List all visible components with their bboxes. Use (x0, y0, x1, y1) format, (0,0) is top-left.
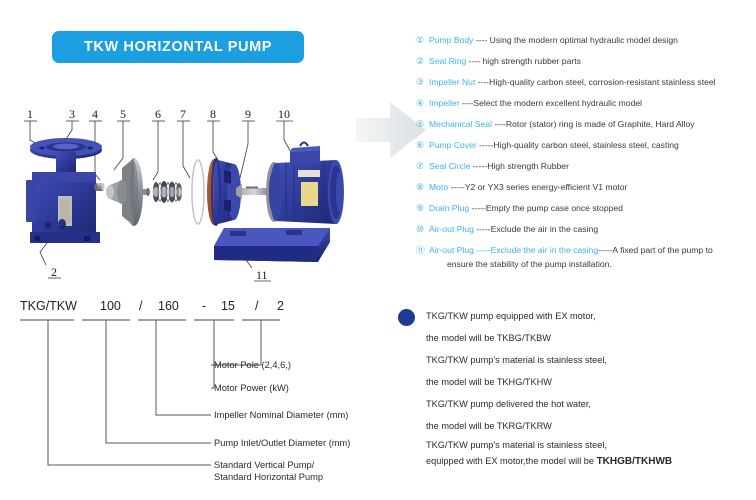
legend-dash: ---- (475, 77, 489, 87)
legend-number: ⑪ (416, 244, 429, 256)
pump-body-part (26, 138, 102, 243)
model-labels: Motor Pole (2,4,6,) Motor Power (kW) Imp… (214, 360, 350, 482)
legend-part-desc: High-quality carbon steel, corrosion-res… (489, 77, 715, 87)
legend-part-desc-rest: -----A fixed part of the pump to (598, 245, 713, 255)
code-part-prefix: TKG/TKW (20, 299, 77, 313)
legend-dash: ---- (460, 98, 474, 108)
legend-part-desc: High strength Rubber (487, 161, 569, 171)
callout-number-8: 8 (210, 107, 216, 121)
note-line: TKG/TKW pump delivered the hot water, (426, 393, 748, 415)
legend-item: ① Pump Body ---- Using the modern optima… (416, 34, 752, 55)
model-variant-notes: TKG/TKW pump equipped with EX motor, the… (398, 305, 748, 470)
legend-part-desc: Empty the pump case once stopped (486, 203, 623, 213)
exploded-pump-diagram: 1 3 4 5 6 7 8 9 10 2 11 (18, 100, 368, 285)
legend-part-desc: High-quality carbon steel, stainless ste… (493, 140, 678, 150)
note-line: TKG/TKW pump equipped with EX motor, (426, 305, 748, 327)
legend-dash: ----- (469, 203, 486, 213)
base-plate-part (214, 228, 330, 262)
legend-part-name: Impeller (429, 98, 460, 108)
bullet-dot-icon (398, 309, 415, 326)
legend-part-desc: high strength rubber parts (483, 56, 581, 66)
legend-item: ② Seal Ring ---- high strength rubber pa… (416, 55, 752, 76)
legend-dash: ---- (473, 35, 489, 45)
code-part-impeller: 160 (158, 299, 179, 313)
legend-number: ⑨ (416, 202, 429, 214)
note-final-prefix: equipped with EX motor,the model will be (426, 456, 597, 466)
page-title-banner: TKW HORIZONTAL PUMP (52, 31, 304, 63)
label-inlet-diameter: Pump Inlet/Outlet Diameter (mm) (214, 438, 350, 448)
callout-number-4: 4 (92, 107, 98, 121)
legend-item: ⑩ Air-out Plug -----Exclude the air in t… (416, 223, 752, 244)
legend-part-name: Impeller Nut (429, 77, 475, 87)
model-code-row: TKG/TKW 100 / 160 - 15 / 2 (20, 299, 284, 313)
code-separator-3: / (255, 299, 259, 313)
code-part-power: 15 (221, 299, 235, 313)
model-code-naming-diagram: TKG/TKW 100 / 160 - 15 / 2 (18, 296, 393, 496)
callout-number-9: 9 (245, 107, 251, 121)
legend-dash: ----- (474, 224, 491, 234)
legend-item: ⑤ Mechanical Seal ----Rotor (stator) rin… (416, 118, 752, 139)
legend-part-name: Moto (429, 182, 448, 192)
legend-part-desc-blue: Exclude the air in the casing (491, 245, 599, 255)
note-line-final-1: TKG/TKW pump's material is stainless ste… (426, 437, 748, 453)
legend-number: ⑩ (416, 223, 429, 235)
callout-number-6: 6 (155, 107, 161, 121)
mechanical-seal-part (142, 181, 182, 203)
legend-number: ⑦ (416, 160, 429, 172)
legend-item: ③ Impeller Nut ----High-quality carbon s… (416, 76, 752, 97)
legend-part-name: Air-out Plug (429, 245, 474, 255)
note-line: TKG/TKW pump's material is stainless ste… (426, 349, 748, 371)
legend-number: ③ (416, 76, 429, 88)
legend-item: ⑦ Seal Circle -----High strength Rubber (416, 160, 752, 181)
parts-legend-list: ① Pump Body ---- Using the modern optima… (416, 34, 752, 270)
seal-circle-part (192, 160, 204, 224)
legend-part-desc: Y2 or YX3 series energy-efficient V1 mot… (465, 182, 628, 192)
legend-part-name: Seal Ring (429, 56, 466, 66)
legend-part-desc: Rotor (stator) ring is made of Graphite,… (506, 119, 695, 129)
impeller-part (106, 158, 143, 226)
legend-part-desc-continuation: ensure the stability of the pump install… (429, 258, 752, 270)
legend-number: ④ (416, 97, 429, 109)
legend-dash: ----- (448, 182, 465, 192)
legend-item: ④ Impeller ----Select the modern excelle… (416, 97, 752, 118)
legend-dash: ----- (474, 245, 491, 255)
note-line-final-2: equipped with EX motor,the model will be… (426, 453, 748, 470)
label-standard-pump-2: Standard Horizontal Pump (214, 472, 323, 482)
legend-part-desc: Using the modern optimal hydraulic model… (490, 35, 678, 45)
callout-number-5: 5 (120, 107, 126, 121)
callout-number-1: 1 (27, 107, 33, 121)
legend-dash: ----- (471, 161, 488, 171)
legend-item: ⑥ Pump Cover -----High-quality carbon st… (416, 139, 752, 160)
callout-number-11: 11 (256, 268, 268, 282)
note-line: the model will be TKRG/TKRW (426, 415, 748, 437)
callout-number-7: 7 (180, 107, 186, 121)
legend-part-desc: Exclude the air in the casing (491, 224, 599, 234)
legend-number: ① (416, 34, 429, 46)
legend-item: ⑨ Drain Plug -----Empty the pump case on… (416, 202, 752, 223)
code-part-pole: 2 (277, 299, 284, 313)
page-title: TKW HORIZONTAL PUMP (84, 39, 272, 55)
pump-cover-part (207, 159, 241, 225)
code-separator-2: - (202, 299, 206, 313)
legend-dash: ---- (466, 56, 482, 66)
legend-dash: ----- (477, 140, 494, 150)
note-line: the model will be TKBG/TKBW (426, 327, 748, 349)
motor-part (270, 143, 344, 225)
legend-part-desc: Select the modern excellent hydraulic mo… (473, 98, 642, 108)
legend-part-name: Pump Cover (429, 140, 477, 150)
note-line: the model will be TKHG/TKHW (426, 371, 748, 393)
label-motor-power: Motor Power (kW) (214, 383, 289, 393)
legend-item: ⑧ Moto -----Y2 or YX3 series energy-effi… (416, 181, 752, 202)
callout-number-2: 2 (51, 265, 57, 279)
legend-number: ⑥ (416, 139, 429, 151)
callout-number-10: 10 (278, 107, 290, 121)
callout-number-3: 3 (69, 107, 75, 121)
label-motor-pole: Motor Pole (2,4,6,) (214, 360, 291, 370)
code-separator-1: / (139, 299, 143, 313)
legend-item: ⑪ Air-out Plug -----Exclude the air in t… (416, 244, 752, 270)
legend-part-name: Mechanical Seal (429, 119, 492, 129)
code-part-inlet: 100 (100, 299, 121, 313)
legend-dash: ---- (492, 119, 506, 129)
legend-part-name: Seal Circle (429, 161, 471, 171)
impeller-nut-part (94, 183, 104, 191)
label-standard-pump-1: Standard Vertical Pump/ (214, 460, 315, 470)
legend-number: ② (416, 55, 429, 67)
legend-number: ⑧ (416, 181, 429, 193)
legend-part-name: Drain Plug (429, 203, 469, 213)
label-impeller-diameter: Impeller Nominal Diameter (mm) (214, 410, 348, 420)
note-final-bold-model: TKHGB/TKHWB (597, 456, 673, 467)
legend-number: ⑤ (416, 118, 429, 130)
legend-part-name: Pump Body (429, 35, 473, 45)
legend-part-name: Air-out Plug (429, 224, 474, 234)
